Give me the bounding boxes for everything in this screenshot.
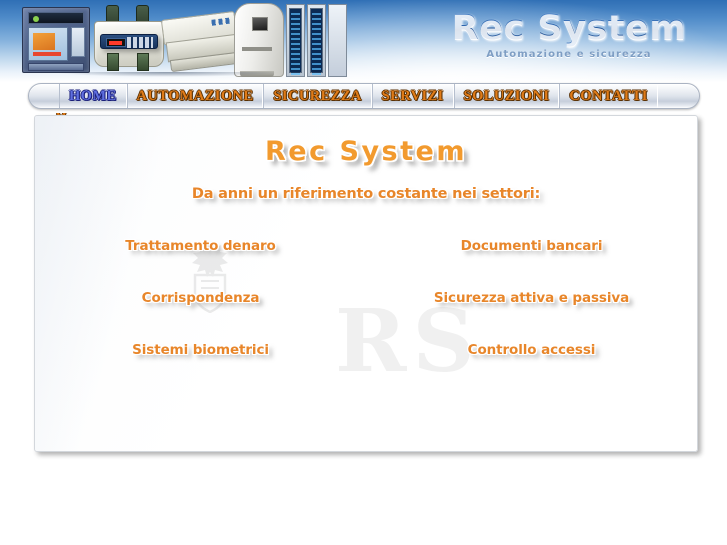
- counter-stack-left: [107, 53, 119, 71]
- nav-item-sicurezza[interactable]: SICUREZZA: [263, 84, 371, 108]
- navbar-left-cap: [29, 84, 59, 108]
- sector-documenti-bancari: Documenti bancari: [366, 238, 697, 254]
- header-product-montage: [18, 1, 348, 81]
- nav-item-automazione-label: AUTOMAZIONE: [137, 88, 254, 105]
- page-title: Rec System: [35, 136, 697, 167]
- nav-item-soluzioni[interactable]: SOLUZIONI: [454, 84, 560, 108]
- scanner-kiosk-photo: [230, 1, 290, 79]
- atm-keypad: [71, 27, 85, 57]
- sector-sistemi-biometrici: Sistemi biometrici: [35, 342, 366, 358]
- page-subtitle: Da anni un riferimento costante nei sett…: [35, 186, 697, 202]
- site-header: Rec System Automazione e sicurezza: [0, 0, 727, 82]
- nav-item-contatti[interactable]: CONTATTI: [559, 84, 657, 108]
- sector-row: Trattamento denaro Documenti bancari: [35, 220, 697, 272]
- kiosk-card-slot: [242, 47, 272, 51]
- navbar: HOME AUTOMAZIONE SICUREZZA SERVIZI SOLUZ…: [28, 83, 700, 109]
- server-rack-1: [286, 4, 305, 77]
- sector-corrispondenza: Corrispondenza: [35, 290, 366, 306]
- atm-header-panel: [28, 12, 84, 24]
- server-rack-1-glass: [289, 8, 302, 73]
- sector-row: Sistemi biometrici Controllo accessi: [35, 324, 697, 376]
- server-rack-2: [307, 4, 326, 77]
- sectors-grid: Trattamento denaro Documenti bancari Cor…: [35, 220, 697, 376]
- counter-keypad: [127, 37, 153, 48]
- kiosk-shell: [234, 3, 284, 77]
- kiosk-screen: [252, 17, 268, 31]
- page-root: Rec System Automazione e sicurezza HOME …: [0, 0, 727, 545]
- nav-item-contatti-label: CONTATTI: [569, 88, 647, 105]
- content-body: Rec System Da anni un riferimento costan…: [35, 116, 697, 451]
- kiosk-base: [240, 71, 274, 77]
- server-rack-3: [328, 4, 347, 77]
- nav-item-sicurezza-label: SICUREZZA: [273, 88, 361, 105]
- content-panel: RS Rec System Da anni un riferimento cos…: [34, 115, 698, 452]
- nav-item-servizi-label: SERVIZI: [382, 88, 444, 105]
- nav-item-home-label: HOME: [69, 88, 117, 105]
- nav-item-servizi[interactable]: SERVIZI: [372, 84, 454, 108]
- nav-item-automazione[interactable]: AUTOMAZIONE: [127, 84, 264, 108]
- counter-stack-right: [137, 53, 149, 71]
- sector-controllo-accessi: Controllo accessi: [366, 342, 697, 358]
- brand-tagline: Automazione e sicurezza: [429, 49, 709, 60]
- atm-kiosk-photo: [22, 7, 90, 73]
- server-rack-2-glass: [310, 8, 323, 73]
- banknote-counter-photo: [90, 3, 168, 77]
- atm-screen: [28, 27, 68, 61]
- nav-item-soluzioni-label: SOLUZIONI: [464, 88, 550, 105]
- server-rack-photo: [286, 2, 352, 79]
- counter-control-panel: [100, 34, 158, 49]
- sector-trattamento-denaro: Trattamento denaro: [35, 238, 366, 254]
- atm-base: [28, 63, 84, 71]
- brand-title: Rec System: [429, 8, 709, 48]
- sector-sicurezza-attiva-passiva: Sicurezza attiva e passiva: [366, 290, 697, 306]
- nav-item-home[interactable]: HOME: [59, 84, 127, 108]
- counter-display: [106, 38, 126, 47]
- main-navigation: HOME AUTOMAZIONE SICUREZZA SERVIZI SOLUZ…: [28, 83, 700, 109]
- navbar-right-cap: [658, 84, 698, 108]
- brand-block: Rec System Automazione e sicurezza: [429, 8, 709, 70]
- sector-row: Corrispondenza Sicurezza attiva e passiv…: [35, 272, 697, 324]
